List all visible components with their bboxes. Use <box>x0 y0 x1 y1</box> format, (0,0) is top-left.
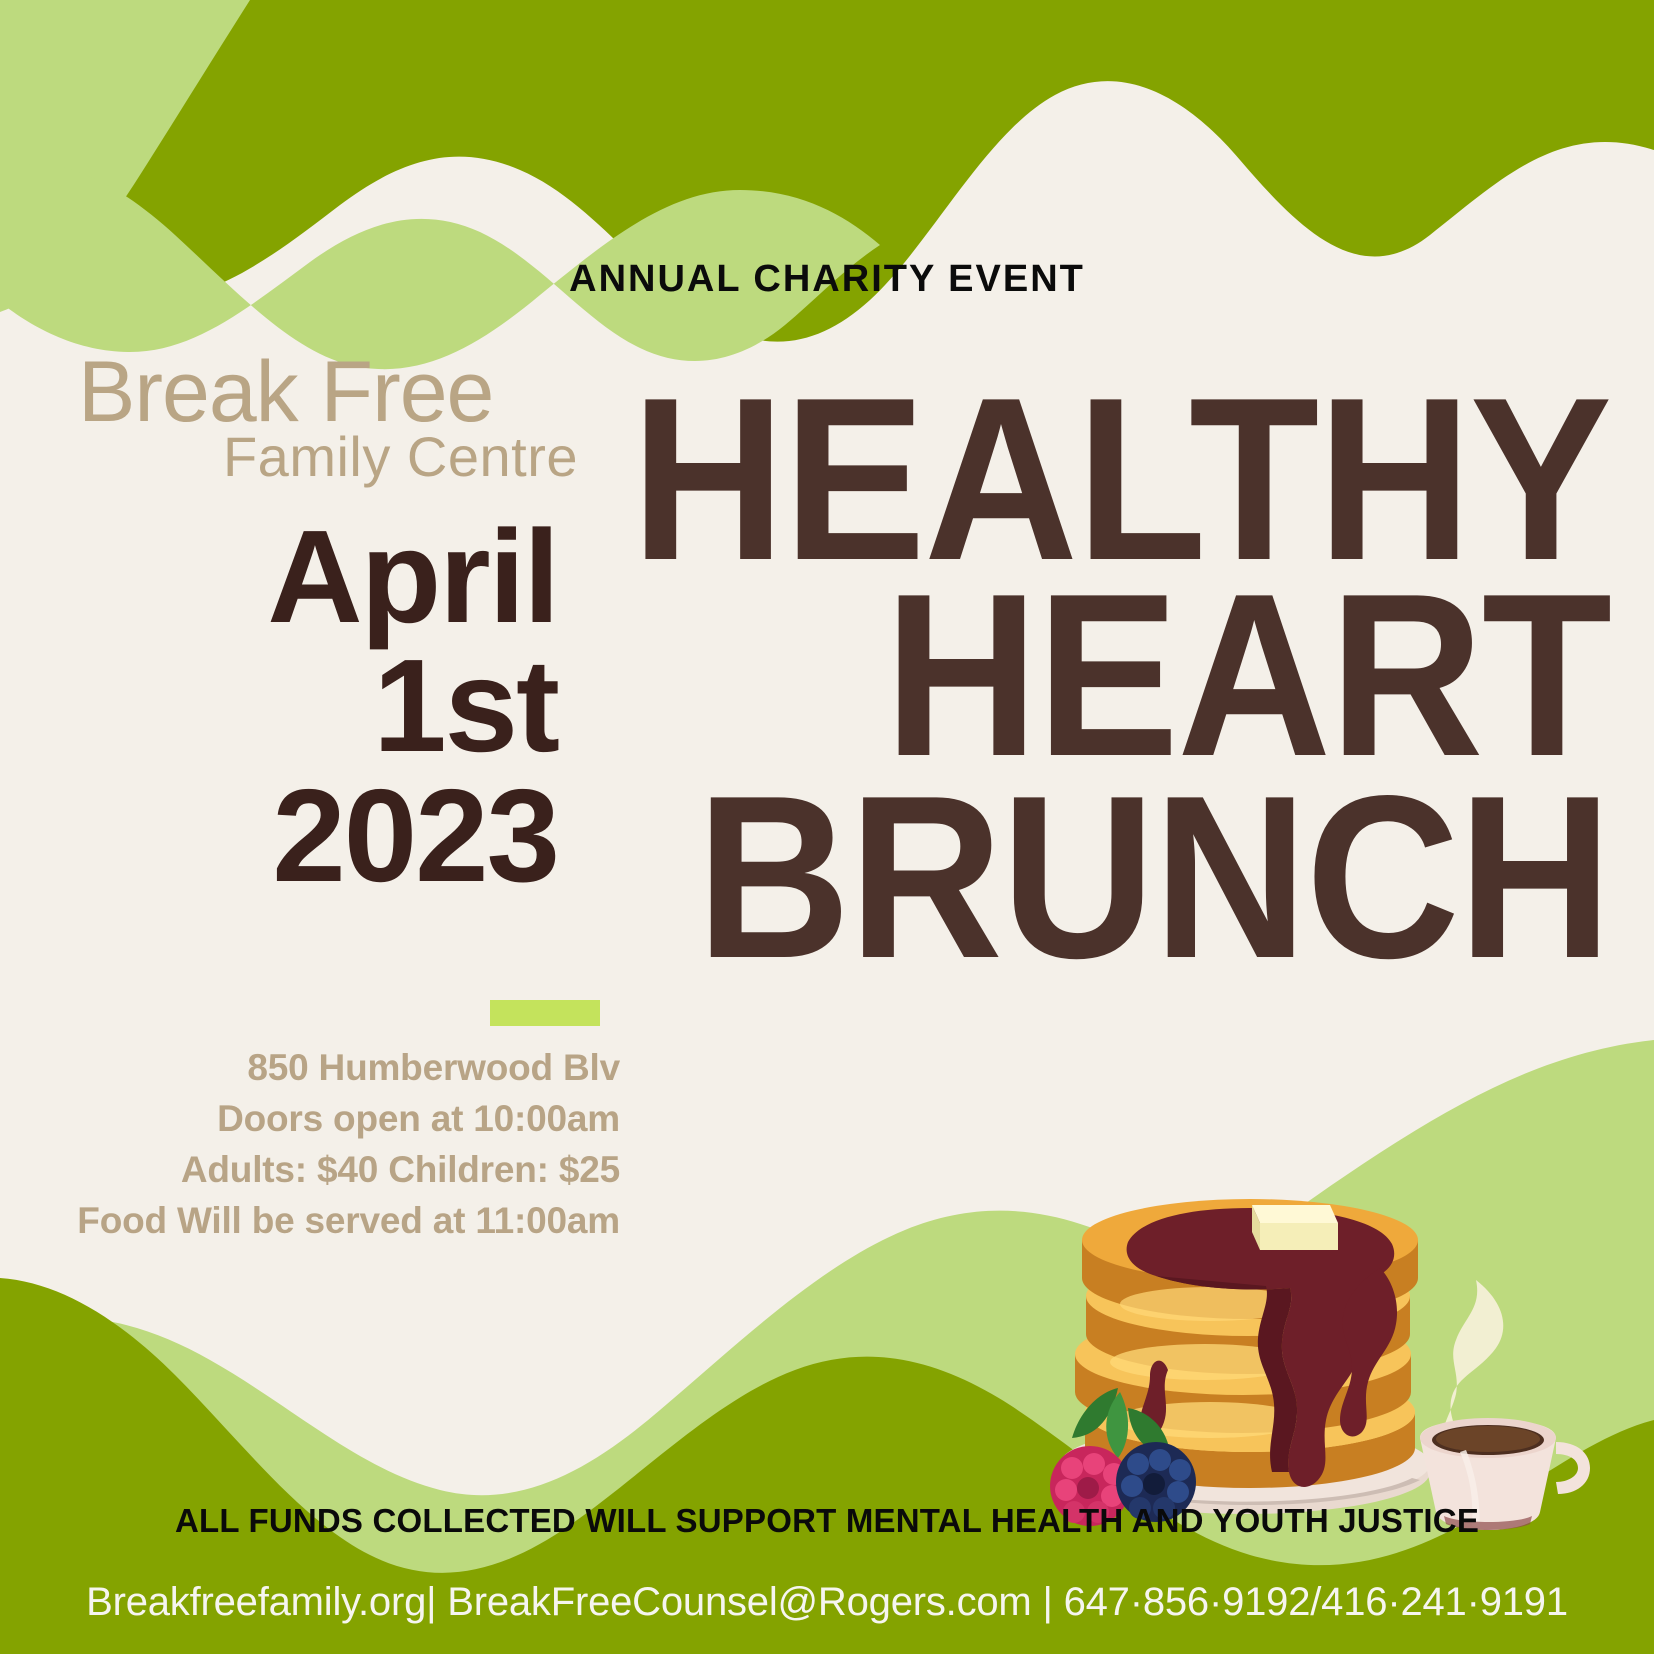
event-details: 850 Humberwood Blv Doors open at 10:00am… <box>20 1042 620 1246</box>
detail-pricing: Adults: $40 Children: $25 <box>20 1144 620 1195</box>
pancake-illustration <box>960 1120 1600 1540</box>
detail-doors-open: Doors open at 10:00am <box>20 1093 620 1144</box>
footer-support-text: ALL FUNDS COLLECTED WILL SUPPORT MENTAL … <box>0 1502 1654 1540</box>
detail-address: 850 Humberwood Blv <box>20 1042 620 1093</box>
event-headline: HEALTHY HEART BRUNCH <box>546 382 1610 976</box>
butter-icon <box>1252 1205 1338 1250</box>
poster-canvas: ANNUAL CHARITY EVENT Break Free Family C… <box>0 0 1654 1654</box>
brand-logo-main: Break Free <box>78 352 598 434</box>
event-date: April 1st 2023 <box>40 512 558 900</box>
brand-logo: Break Free Family Centre <box>78 352 598 483</box>
headline-line-2: HEART <box>631 578 1610 774</box>
headline-line-3: BRUNCH <box>631 780 1610 976</box>
event-date-year: 2023 <box>40 771 558 900</box>
accent-dash <box>490 1000 600 1026</box>
footer-contact-text: Breakfreefamily.org| BreakFreeCounsel@Ro… <box>0 1580 1654 1625</box>
event-date-day: 1st <box>40 641 558 770</box>
eyebrow-text: ANNUAL CHARITY EVENT <box>0 258 1654 301</box>
event-date-month: April <box>40 512 558 641</box>
detail-food-time: Food Will be served at 11:00am <box>20 1195 620 1246</box>
